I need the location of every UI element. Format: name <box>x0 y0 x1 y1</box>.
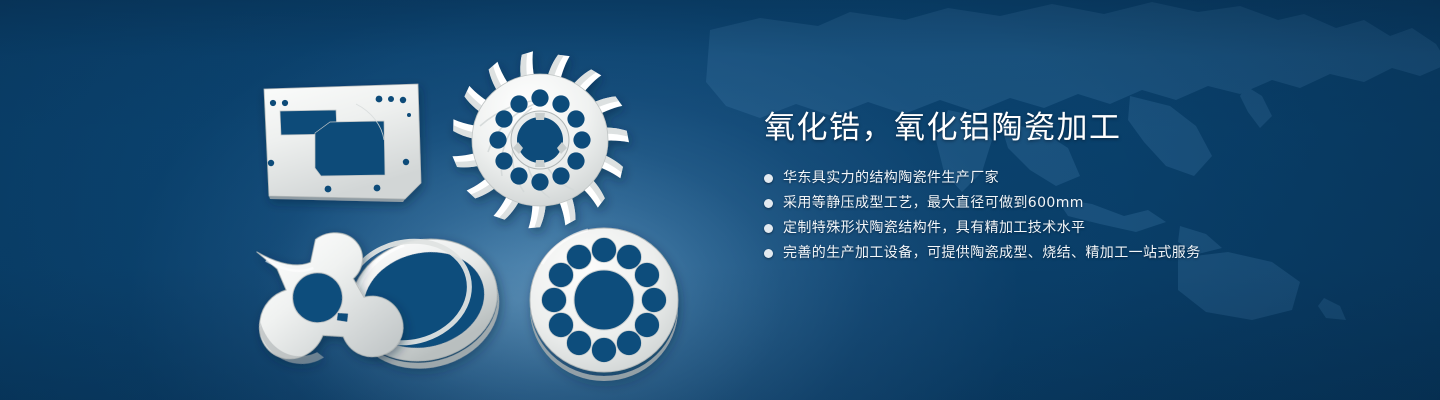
list-item-label: 采用等静压成型工艺，最大直径可做到600mm <box>783 191 1084 216</box>
bullet-dot-icon <box>764 249 773 258</box>
list-item: 完善的生产加工设备，可提供陶瓷成型、烧结、精加工一站式服务 <box>764 241 1404 266</box>
bullet-dot-icon <box>764 224 773 233</box>
list-item-label: 定制特殊形状陶瓷结构件，具有精加工技术水平 <box>783 216 1085 241</box>
list-item: 定制特殊形状陶瓷结构件，具有精加工技术水平 <box>764 216 1404 241</box>
banner-copy: 氧化锆，氧化铝陶瓷加工 华东具实力的结构陶瓷件生产厂家 采用等静压成型工艺，最大… <box>764 108 1404 266</box>
bullet-dot-icon <box>764 174 773 183</box>
hero-banner: 氧化锆，氧化铝陶瓷加工 华东具实力的结构陶瓷件生产厂家 采用等静压成型工艺，最大… <box>0 0 1440 400</box>
ceramic-bladed-impeller <box>450 50 629 229</box>
bullet-dot-icon <box>764 199 773 208</box>
ceramic-mounting-plate <box>264 84 421 202</box>
list-item-label: 完善的生产加工设备，可提供陶瓷成型、烧结、精加工一站式服务 <box>783 241 1201 266</box>
feature-list: 华东具实力的结构陶瓷件生产厂家 采用等静压成型工艺，最大直径可做到600mm 定… <box>764 166 1404 266</box>
list-item: 采用等静压成型工艺，最大直径可做到600mm <box>764 191 1404 216</box>
product-montage <box>0 0 760 400</box>
ceramic-perforated-disc <box>530 228 678 381</box>
list-item-label: 华东具实力的结构陶瓷件生产厂家 <box>783 166 999 191</box>
page-title: 氧化锆，氧化铝陶瓷加工 <box>764 108 1404 148</box>
list-item: 华东具实力的结构陶瓷件生产厂家 <box>764 166 1404 191</box>
